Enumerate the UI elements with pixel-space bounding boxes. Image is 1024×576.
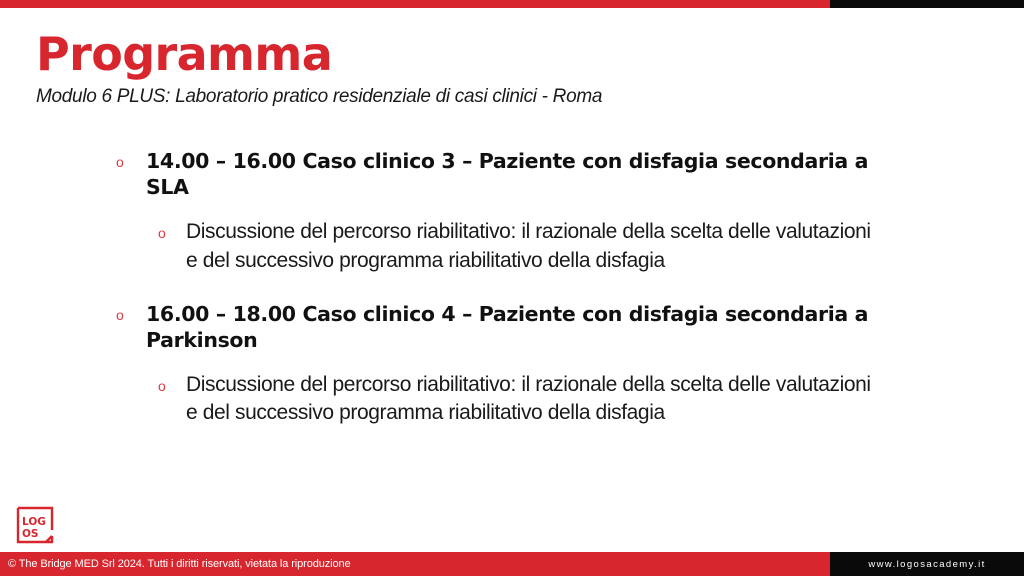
sub-bullet-marker-icon: o bbox=[158, 218, 186, 243]
top-accent-bar bbox=[0, 0, 1024, 8]
program-session-heading: o 16.00 – 18.00 Caso clinico 4 – Pazient… bbox=[116, 301, 876, 353]
slide-header: Programma Modulo 6 PLUS: Laboratorio pra… bbox=[36, 30, 976, 108]
program-list: o 14.00 – 16.00 Caso clinico 3 – Pazient… bbox=[116, 148, 876, 453]
top-bar-red-segment bbox=[0, 0, 830, 8]
sub-bullet-marker-icon: o bbox=[158, 371, 186, 396]
footer-website-bar: www.logosacademy.it bbox=[830, 552, 1024, 576]
bullet-marker-icon: o bbox=[116, 148, 146, 172]
logos-logo: LOG OS bbox=[16, 506, 58, 544]
slide-footer: © The Bridge MED Srl 2024. Tutti i dirit… bbox=[0, 552, 1024, 576]
bullet-marker-icon: o bbox=[116, 301, 146, 325]
page-title: Programma bbox=[36, 30, 976, 78]
footer-website-text: www.logosacademy.it bbox=[868, 559, 985, 570]
logo-line-2: OS bbox=[22, 528, 39, 540]
page-subtitle: Modulo 6 PLUS: Laboratorio pratico resid… bbox=[36, 86, 976, 108]
footer-copyright-text: © The Bridge MED Srl 2024. Tutti i dirit… bbox=[8, 558, 351, 570]
program-session-detail: o Discussione del percorso riabilitativo… bbox=[116, 218, 876, 274]
program-group: o 14.00 – 16.00 Caso clinico 3 – Pazient… bbox=[116, 148, 876, 275]
session-detail-text: Discussione del percorso riabilitativo: … bbox=[186, 371, 876, 427]
program-group: o 16.00 – 18.00 Caso clinico 4 – Pazient… bbox=[116, 301, 876, 428]
footer-copyright-bar: © The Bridge MED Srl 2024. Tutti i dirit… bbox=[0, 552, 830, 576]
top-bar-black-segment bbox=[830, 0, 1024, 8]
program-session-detail: o Discussione del percorso riabilitativo… bbox=[116, 371, 876, 427]
session-detail-text: Discussione del percorso riabilitativo: … bbox=[186, 218, 876, 274]
session-title-text: 14.00 – 16.00 Caso clinico 3 – Paziente … bbox=[146, 148, 876, 200]
session-title-text: 16.00 – 18.00 Caso clinico 4 – Paziente … bbox=[146, 301, 876, 353]
logo-line-1: LOG bbox=[22, 516, 46, 528]
program-session-heading: o 14.00 – 16.00 Caso clinico 3 – Pazient… bbox=[116, 148, 876, 200]
